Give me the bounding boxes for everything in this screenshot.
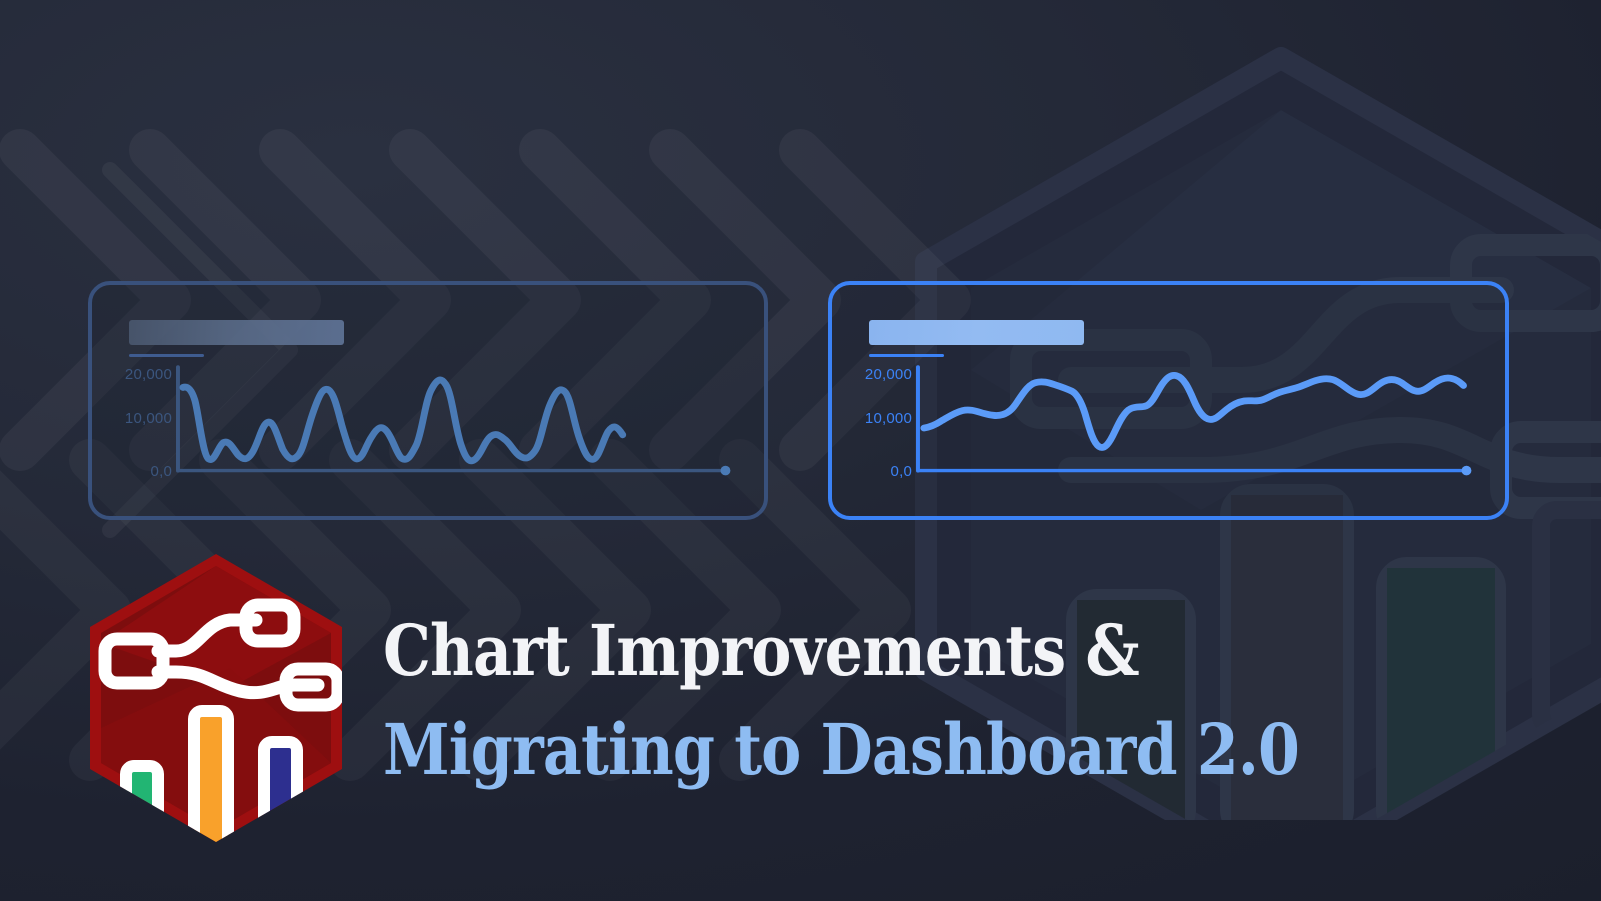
headline-block: Chart Improvements & Migrating to Dashbo…	[383, 601, 1503, 799]
promo-banner: 20,000 10,000 0,0 20,000 10,000 0,0	[0, 0, 1601, 901]
before-chart-plot	[92, 285, 764, 516]
grafana-hexagon-logo	[80, 548, 352, 848]
after-series-line	[924, 375, 1464, 447]
before-chart-panel[interactable]: 20,000 10,000 0,0	[88, 281, 768, 520]
before-series-line	[183, 380, 623, 461]
headline-line-2: Migrating to Dashboard 2.0	[383, 700, 1346, 799]
after-chart-panel[interactable]: 20,000 10,000 0,0	[828, 281, 1509, 520]
headline-line-1: Chart Improvements &	[383, 601, 1346, 700]
after-chart-plot	[832, 285, 1505, 516]
